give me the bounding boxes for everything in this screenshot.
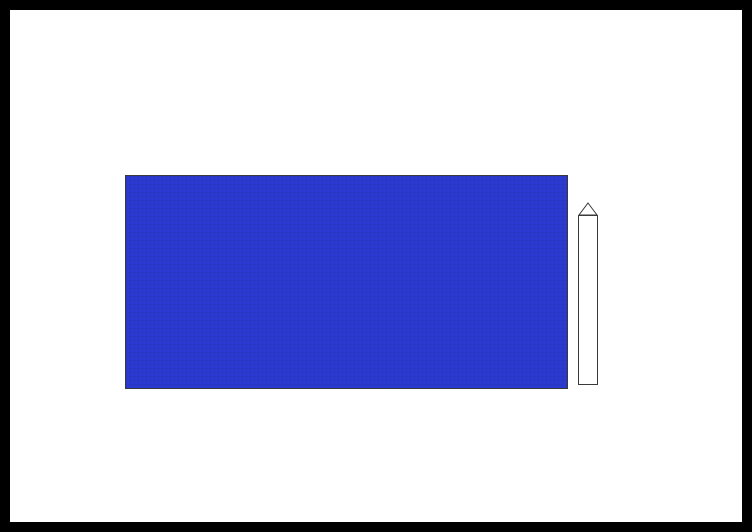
- figure-canvas: [10, 10, 742, 522]
- contour-plot-area: [125, 175, 568, 389]
- contour-field: [126, 176, 567, 388]
- colorbar-extend-cap: [578, 202, 598, 216]
- colorbar: [578, 215, 598, 385]
